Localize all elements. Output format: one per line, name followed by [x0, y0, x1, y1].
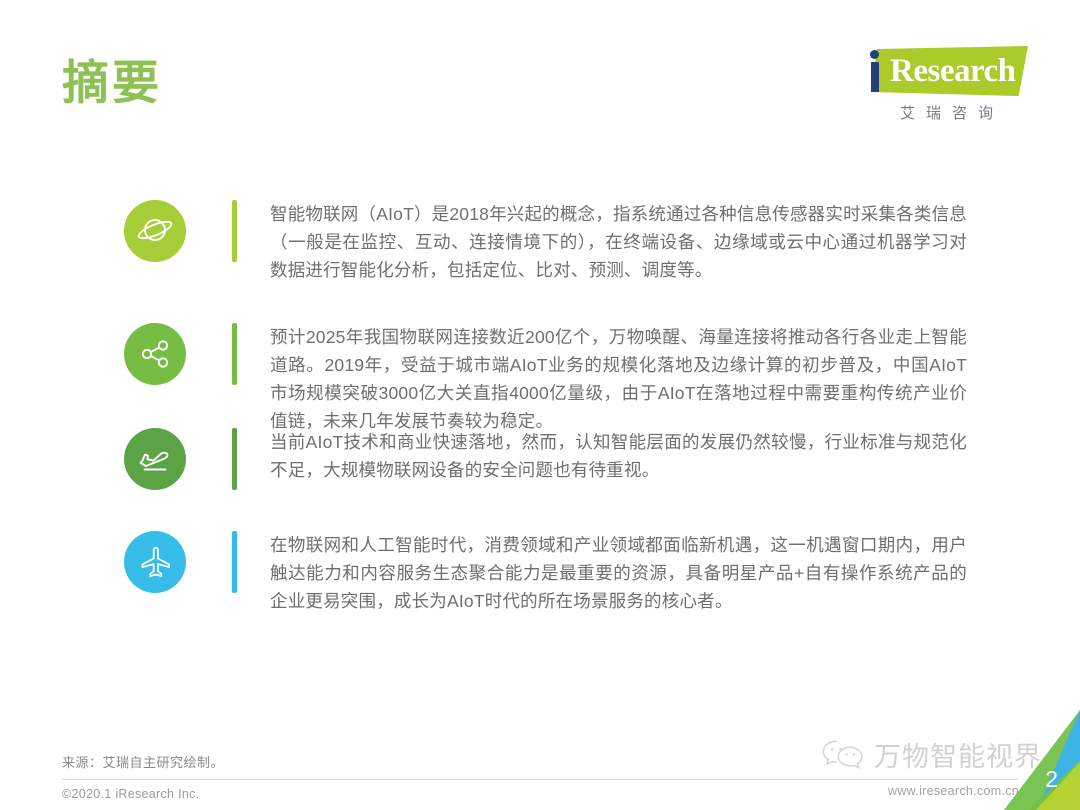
list-item: 当前AIoT技术和商业快速落地，然而，认知智能层面的发展仍然较慢，行业标准与规范…	[124, 428, 967, 490]
share-nodes-icon	[124, 323, 186, 385]
list-item-text: 智能物联网（AIoT）是2018年兴起的概念，指系统通过各种信息传感器实时采集各…	[270, 200, 967, 284]
iresearch-logo: Research 艾瑞咨询	[850, 44, 1028, 128]
airplane-icon	[124, 531, 186, 593]
logo-subtitle: 艾瑞咨询	[876, 102, 1028, 123]
list-item-text: 当前AIoT技术和商业快速落地，然而，认知智能层面的发展仍然较慢，行业标准与规范…	[270, 428, 967, 484]
footer-divider	[62, 779, 1018, 780]
row-divider	[232, 428, 237, 490]
wechat-icon	[820, 737, 866, 773]
row-divider	[232, 200, 237, 262]
list-item-text: 预计2025年我国物联网连接数近200亿个，万物唤醒、海量连接将推动各行各业走上…	[270, 323, 967, 435]
list-item: 预计2025年我国物联网连接数近200亿个，万物唤醒、海量连接将推动各行各业走上…	[124, 323, 967, 435]
row-divider	[232, 531, 237, 593]
corner-ribbon	[984, 704, 1080, 810]
logo-i-stem-icon	[871, 62, 879, 92]
plane-departure-icon	[124, 428, 186, 490]
list-item-text: 在物联网和人工智能时代，消费领域和产业领域都面临新机遇，这一机遇窗口期内，用户触…	[270, 531, 967, 615]
source-note: 来源：艾瑞自主研究绘制。	[62, 752, 224, 771]
page-number: 2	[1045, 766, 1058, 793]
list-item: 在物联网和人工智能时代，消费领域和产业领域都面临新机遇，这一机遇窗口期内，用户触…	[124, 531, 967, 615]
copyright-text: ©2020.1 iResearch Inc.	[62, 787, 199, 801]
row-divider	[232, 323, 237, 385]
logo-mark: Research	[850, 44, 1028, 100]
list-item: 智能物联网（AIoT）是2018年兴起的概念，指系统通过各种信息传感器实时采集各…	[124, 200, 967, 284]
planet-icon	[124, 200, 186, 262]
slide: 摘要 Research 艾瑞咨询 智能物联网（AIoT）是2018年兴起的概念，…	[0, 0, 1080, 810]
logo-wordmark: Research	[890, 50, 1016, 92]
logo-i-dot-icon	[870, 50, 879, 59]
page-title: 摘要	[62, 52, 162, 114]
